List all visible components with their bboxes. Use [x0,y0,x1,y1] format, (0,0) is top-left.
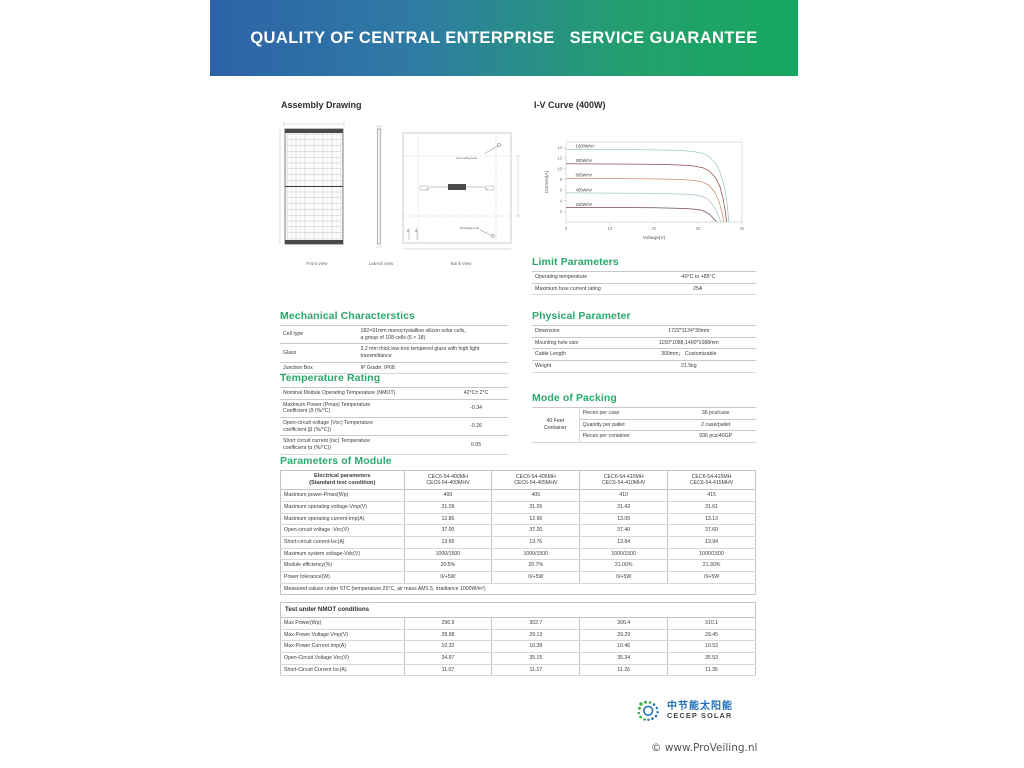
drainage-hole-label: Drainage hole [460,226,480,230]
lateral-view-caption: Lateral view [350,261,412,266]
module-parameter-label: Open-circuit voltage -Voc(V) [281,525,405,537]
module-parameter-value: 13.65 [404,536,492,548]
back-view-caption: Back view [426,261,496,266]
limit-parameter-row: Maximum fuse current rating25A [532,283,756,295]
packing-label: Quantity per pallet [579,419,675,431]
back-view-drawing: Grounding hole Drainage hole A A [403,133,521,249]
module-parameter-value: 31.26 [492,501,580,513]
limit-parameter-label: Operating temperature [532,272,640,284]
module-parameter-label: Maximum operating voltage-Vmp(V) [281,501,405,513]
packing-title: Mode of Packing [532,392,756,404]
front-view-drawing [280,121,344,244]
module-model-header: CEC6-54-415MHCEC6-54-415MHV [668,471,756,490]
mechanical-row: Glass3.2 mm thick low-iron tempered glas… [280,344,508,362]
x-axis-label: Voltage(V) [643,235,666,241]
mechanical-value: 3.2 mm thick low-iron tempered glass wit… [358,344,508,362]
logo-english-text: CECEP SOLAR [667,712,733,721]
packing-table: 40 FeetContainerPieces per case36 pcs/ca… [532,407,756,443]
module-parameter-label: Power tolerance(W) [281,571,405,583]
nmot-label: Max-Power Voltage Vmp(V) [281,629,405,641]
nmot-row: Max-Power Current Imp(A)10.3210.3910.461… [281,641,756,653]
physical-parameter-label: Dimension [532,326,622,338]
module-parameters-title: Parameters of Module [280,455,756,467]
module-parameter-value: 1000/1500 [492,548,580,560]
packing-section: Mode of Packing 40 FeetContainerPieces p… [532,392,756,443]
module-parameter-value: 1000/1500 [404,548,492,560]
nmot-value: 11.07 [404,664,492,676]
module-parameter-value: 1000/1500 [580,548,668,560]
nmot-row: Max-Power Voltage Vmp(V)28.9829.1329.292… [281,629,756,641]
module-parameter-value: 37.40 [580,525,668,537]
physical-parameter-label: Cable Length [532,349,622,361]
mechanical-row: Cell type182×91mm monocrystalline silico… [280,326,508,344]
module-parameter-value: 37.60 [668,525,756,537]
limit-parameters-title: Limit Parameters [532,256,756,268]
module-parameters-row: Power tolerance(W)0/+5W0/+5W0/+5W0/+5W [281,571,756,583]
nmot-value: 29.45 [668,629,756,641]
physical-parameter-row: Mounting hole size1150*1088,1400*1088mm [532,337,756,349]
nmot-value: 35.15 [492,652,580,664]
iv-curve-title: I-V Curve (400W) [534,100,764,110]
module-parameter-value: 0/+5W [404,571,492,583]
module-parameter-value: 410 [580,490,668,502]
module-parameter-value: 400 [404,490,492,502]
physical-parameter-value: 1722*1134*30mm [622,326,756,338]
x-tick-label: 30 [696,226,701,231]
limit-parameters-section: Limit Parameters Operating temperature-4… [532,256,756,295]
x-tick-label: 20 [652,226,657,231]
nmot-value: 306.4 [580,617,668,629]
module-parameters-footnote-row: Measured values under STC (temperature 2… [281,583,756,595]
module-model-header: CEC6-54-405MHCEC6-54-405MHV [492,471,580,490]
temperature-rating-value: -0.26 [444,417,508,435]
datasheet-page: QUALITY OF CENTRAL ENTERPRISE SERVICE GU… [0,0,1024,768]
iv-curve-label: 200W/m² [576,202,593,207]
temperature-title: Temperature Rating [280,372,508,384]
module-parameters-row: Maximum operating current-Imp(A)12.8612.… [281,513,756,525]
nmot-value: 10.32 [404,641,492,653]
section-mark-a-right: A [415,229,418,233]
physical-parameter-row: Weight21.5kg [532,360,756,372]
physical-parameter-value: 21.5kg [622,360,756,372]
module-parameter-value: 0/+5W [668,571,756,583]
grounding-hole-label: Grounding hole [456,156,477,160]
temperature-rating-row: Open-circuit voltage (Voc) Temperatureco… [280,417,508,435]
module-parameters-row: Module efficiency(%)20.5%20.7%21.00%21.3… [281,560,756,572]
module-parameters-header-row: Electrical parameters(Standard test cond… [281,471,756,490]
cecep-logo-mark [636,699,662,723]
assembly-drawing-section: Assembly Drawing [281,100,521,110]
physical-parameter-label: Mounting hole size [532,337,622,349]
iv-curve-label: 600W/m² [576,173,593,178]
temperature-rating-value: -0.34 [444,399,508,417]
temperature-rating-row: Nominal Module Operating Temperature (NM… [280,388,508,400]
module-parameter-value: 13.94 [668,536,756,548]
limit-parameter-value: 25A [640,283,756,295]
nmot-value: 11.35 [668,664,756,676]
module-parameter-value: 415 [668,490,756,502]
header-banner: QUALITY OF CENTRAL ENTERPRISE SERVICE GU… [210,0,798,76]
module-parameter-label: Short-circuit current-Isc(A) [281,536,405,548]
nmot-value: 296.9 [404,617,492,629]
module-parameter-value: 0/+5W [580,571,668,583]
nmot-label: Max Power(Wp) [281,617,405,629]
iv-curve-section: I-V Curve (400W) [534,100,764,110]
module-parameter-label: Maximum operating current-Imp(A) [281,513,405,525]
y-tick-label: 6 [560,188,563,193]
banner-title: QUALITY OF CENTRAL ENTERPRISE SERVICE GU… [250,29,757,48]
nmot-value: 34.97 [404,652,492,664]
module-parameter-label: Module efficiency(%) [281,560,405,572]
nmot-value: 302.7 [492,617,580,629]
nmot-value: 11.26 [580,664,668,676]
physical-table: Dimension1722*1134*30mmMounting hole siz… [532,325,756,373]
module-parameters-section: Parameters of Module Electrical paramete… [280,455,756,595]
module-parameter-value: 12.86 [404,513,492,525]
nmot-row: Open-Circuit Voltage Voc(V)34.9735.1535.… [281,652,756,664]
nmot-value: 35.34 [580,652,668,664]
nmot-value: 10.53 [668,641,756,653]
temperature-table: Nominal Module Operating Temperature (NM… [280,387,508,455]
module-model-header: CEC6-54-410MHCEC6-54-410MHV [580,471,668,490]
limit-parameter-label: Maximum fuse current rating [532,283,640,295]
mechanical-label: Cell type [280,326,358,344]
packing-label: Pieces per case [579,408,675,420]
module-parameter-label: Maximum power-Pmax(Wp) [281,490,405,502]
y-tick-label: 2 [560,209,563,214]
nmot-value: 310.1 [668,617,756,629]
module-parameter-value: 21.00% [580,560,668,572]
section-mark-a-left: A [407,229,410,233]
module-parameter-value: 13.84 [580,536,668,548]
x-tick-label: 0 [565,226,568,231]
nmot-row: Max Power(Wp)296.9302.7306.4310.1 [281,617,756,629]
limit-parameter-row: Operating temperature-40°C to +85°C [532,272,756,284]
module-parameter-value: 405 [492,490,580,502]
y-tick-label: 8 [560,177,563,182]
module-parameter-value: 20.7% [492,560,580,572]
module-parameter-label: Maximum system voltage-Vdc(V) [281,548,405,560]
nmot-section: Test under NMOT conditions Max Power(Wp)… [280,602,756,676]
module-parameter-value: 1000/1500 [668,548,756,560]
y-tick-label: 14 [557,145,562,150]
packing-value: 936 pcs/40GP [675,431,756,443]
temperature-rating-value: 0.05 [444,436,508,454]
module-parameters-row: Open-circuit voltage -Voc(V)37.0037.2037… [281,525,756,537]
company-logo: 中节能太阳能 CECEP SOLAR [636,698,756,724]
module-parameter-value: 31.61 [668,501,756,513]
temperature-section: Temperature Rating Nominal Module Operat… [280,372,508,455]
nmot-label: Open-Circuit Voltage Voc(V) [281,652,405,664]
physical-title: Physical Parameter [532,310,756,322]
nmot-table: Test under NMOT conditions Max Power(Wp)… [280,602,756,676]
physical-parameter-value: 300mm； Customizable [622,349,756,361]
temperature-rating-row: Short circuit current (Isc) Temperaturec… [280,436,508,454]
module-parameter-value: 20.5% [404,560,492,572]
packing-value: 2 case/pallet [675,419,756,431]
module-parameter-value: 13.13 [668,513,756,525]
nmot-value: 35.53 [668,652,756,664]
y-tick-label: 10 [557,166,562,171]
mechanical-label: Glass [280,344,358,362]
physical-parameter-label: Weight [532,360,622,372]
module-parameters-footnote: Measured values under STC (temperature 2… [281,583,756,595]
module-parameters-header-label: Electrical parameters(Standard test cond… [281,471,405,490]
y-tick-label: 12 [557,156,562,161]
nmot-value: 10.46 [580,641,668,653]
watermark: © www.ProVeiling.nl [651,742,757,754]
iv-curve-chart: 0102030402468101214 1000W/m²800W/m²600W/… [534,134,756,244]
physical-parameter-row: Dimension1722*1134*30mm [532,326,756,338]
module-parameters-row: Maximum system voltage-Vdc(V)1000/150010… [281,548,756,560]
nmot-row: Short-Circuit Current Isc(A)11.0711.1711… [281,664,756,676]
packing-label: Pieces per container [579,431,675,443]
nmot-value: 10.39 [492,641,580,653]
temperature-rating-value: 42°C± 2°C [444,388,508,400]
packing-row: 40 FeetContainerPieces per case36 pcs/ca… [532,408,756,420]
nmot-value: 11.17 [492,664,580,676]
physical-parameter-row: Cable Length300mm； Customizable [532,349,756,361]
module-parameter-value: 13.76 [492,536,580,548]
iv-curve-label: 400W/m² [576,187,593,192]
module-model-header: CEC6-54-400MHCEC6-54-400MHV [404,471,492,490]
assembly-title: Assembly Drawing [281,100,521,110]
temperature-rating-label: Nominal Module Operating Temperature (NM… [280,388,444,400]
module-parameters-row: Maximum power-Pmax(Wp)400405410415 [281,490,756,502]
y-axis-label: Current(A) [544,170,550,193]
y-tick-label: 4 [560,198,563,203]
module-parameter-value: 31.42 [580,501,668,513]
module-parameters-row: Maximum operating voltage-Vmp(V)31.0931.… [281,501,756,513]
packing-value: 36 pcs/case [675,408,756,420]
iv-curve-label: 800W/m² [576,158,593,163]
iv-curve-label: 1000W/m² [576,144,596,149]
nmot-value: 28.98 [404,629,492,641]
x-tick-label: 40 [740,226,745,231]
nmot-title: Test under NMOT conditions [281,603,756,618]
nmot-label: Max-Power Current Imp(A) [281,641,405,653]
temperature-rating-label: Short circuit current (Isc) Temperaturec… [280,436,444,454]
lateral-view-drawing [376,126,382,247]
packing-container-label: 40 FeetContainer [532,408,579,443]
temperature-rating-row: Maximum Power (Pmax) TemperatureCoeffici… [280,399,508,417]
limit-parameters-table: Operating temperature-40°C to +85°CMaxim… [532,271,756,295]
mechanical-table: Cell type182×91mm monocrystalline silico… [280,325,508,374]
module-parameter-value: 21.30% [668,560,756,572]
limit-parameter-value: -40°C to +85°C [640,272,756,284]
module-parameter-value: 37.20 [492,525,580,537]
nmot-value: 29.13 [492,629,580,641]
nmot-value: 29.29 [580,629,668,641]
front-view-caption: Front view [286,261,348,266]
module-parameter-value: 0/+5W [492,571,580,583]
module-parameter-value: 31.09 [404,501,492,513]
module-parameters-row: Short-circuit current-Isc(A)13.6513.7613… [281,536,756,548]
module-parameters-table: Electrical parameters(Standard test cond… [280,470,756,595]
mechanical-value: 182×91mm monocrystalline silicon solar c… [358,326,508,344]
nmot-label: Short-Circuit Current Isc(A) [281,664,405,676]
module-parameter-value: 13.05 [580,513,668,525]
temperature-rating-label: Maximum Power (Pmax) TemperatureCoeffici… [280,399,444,417]
x-tick-label: 10 [608,226,613,231]
temperature-rating-label: Open-circuit voltage (Voc) Temperatureco… [280,417,444,435]
module-parameter-value: 12.96 [492,513,580,525]
module-parameter-value: 37.00 [404,525,492,537]
physical-section: Physical Parameter Dimension1722*1134*30… [532,310,756,373]
physical-parameter-value: 1150*1088,1400*1088mm [622,337,756,349]
mechanical-title: Mechanical Characterstics [280,310,508,322]
mechanical-section: Mechanical Characterstics Cell type182×9… [280,310,508,374]
assembly-drawing-figure: Grounding hole Drainage hole A A [278,116,523,256]
